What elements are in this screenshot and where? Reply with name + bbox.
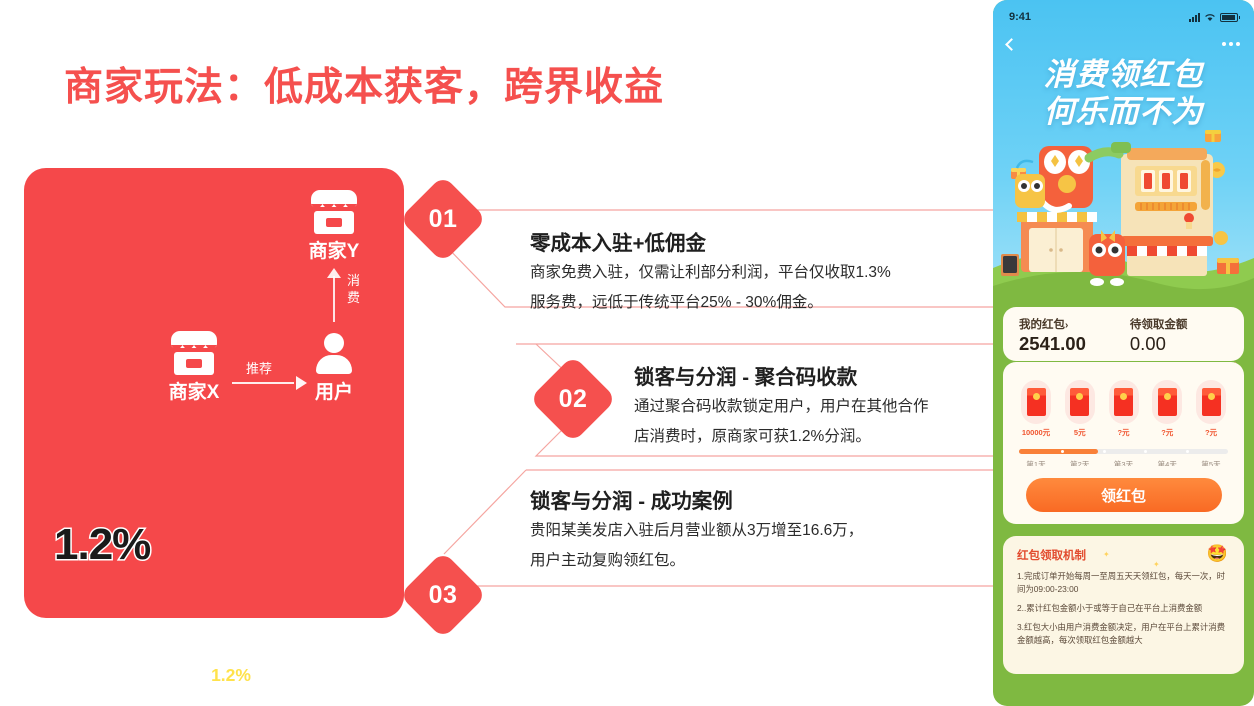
arrow-recommend-right xyxy=(232,376,306,390)
desc-text: 商家X可以得到 xyxy=(90,665,212,685)
step-03-body: 贵阳某美发店入驻后月营业额从3万增至16.6万， 用户主动复购领红包。 xyxy=(530,516,990,576)
page-title: 商家玩法：低成本获客，跨界收益 xyxy=(64,56,664,112)
envelope-amount: ?元 xyxy=(1194,427,1228,438)
my-envelope-label: 我的红包› xyxy=(1019,316,1086,332)
signal-icon xyxy=(1189,13,1200,22)
gift-icon xyxy=(1205,130,1221,142)
card-description: 商家X推荐用户到商家Y消费， 商家X可以得到 1.2%（推荐奖） 让商家愿意“共… xyxy=(24,632,404,706)
node-user: 用户 xyxy=(289,331,379,404)
envelope-icon xyxy=(1109,380,1139,424)
step-02-number: 02 xyxy=(542,368,604,430)
arrow-recommend-label: 推荐 xyxy=(246,358,272,377)
envelope-icon xyxy=(1196,380,1226,424)
node-merchant-y-label: 商家Y xyxy=(289,236,379,263)
hero-illustration xyxy=(993,118,1254,320)
desc-highlight: 1.2% xyxy=(211,665,251,685)
envelope-amount: ?元 xyxy=(1107,427,1141,438)
envelope-amount: 10000元 xyxy=(1019,427,1053,438)
node-merchant-x-label: 商家X xyxy=(149,377,239,404)
user-icon xyxy=(312,331,356,375)
step-03-number: 03 xyxy=(412,564,474,626)
node-merchant-y: 商家Y xyxy=(289,190,379,263)
celebration-emoji-icon: 🤩 xyxy=(1207,544,1228,564)
pending-label: 待领取金额 xyxy=(1130,316,1188,332)
chevron-right-icon: › xyxy=(1065,320,1068,331)
step-03-title: 锁客与分润 - 成功案例 xyxy=(530,484,733,514)
step-03-body-line: 贵阳某美发店入驻后月营业额从3万增至16.6万， xyxy=(530,516,990,546)
joystick-icon xyxy=(1184,213,1194,223)
envelope-icon xyxy=(1152,380,1182,424)
gift-icon xyxy=(1217,258,1239,274)
envelope-item[interactable]: ?元 xyxy=(1194,380,1228,438)
desc-text: 让商家愿意“共享客户” xyxy=(127,694,302,706)
wifi-icon xyxy=(1204,12,1216,22)
step-02-body: 通过聚合码收款锁定用户，用户在其他合作 店消费时，原商家可获1.2%分润。 xyxy=(634,392,994,452)
more-dots-icon[interactable] xyxy=(1222,42,1240,46)
sparkle-icon: ✦ xyxy=(1153,560,1160,569)
rule-item: 1.完成订单开始每周一至周五天天领红包，每天一次，时间为09:00-23:00 xyxy=(1003,564,1244,596)
claim-button-wrap: 领红包 xyxy=(993,478,1254,512)
flower-icon xyxy=(1214,231,1228,245)
step-01-body: 商家免费入驻，仅需让利部分利润，平台仅收取1.3% 服务费，远低于传统平台25%… xyxy=(530,258,990,318)
phone-hero: 9:41 消费领红包 何乐而不为 xyxy=(993,0,1254,320)
phone-navbar xyxy=(993,32,1254,56)
shop-icon xyxy=(171,331,217,375)
step-02-title: 锁客与分润 - 聚合码收款 xyxy=(634,360,857,390)
envelope-list: 10000元 5元 ?元 ?元 ?元 xyxy=(1003,362,1244,438)
my-envelope-label-text: 我的红包 xyxy=(1019,319,1065,331)
envelope-amount: 5元 xyxy=(1063,427,1097,438)
node-merchant-x: 商家X xyxy=(149,331,239,404)
envelope-amount: ?元 xyxy=(1150,427,1184,438)
step-03-body-line: 用户主动复购领红包。 xyxy=(530,546,990,576)
day-progress-bar xyxy=(1019,449,1228,454)
claim-envelope-button[interactable]: 领红包 xyxy=(1026,478,1222,512)
envelope-item[interactable]: 5元 xyxy=(1063,380,1097,438)
desc-text: 商家X推荐用户到商家Y消费， xyxy=(97,636,330,656)
my-envelope-block[interactable]: 我的红包› 2541.00 xyxy=(1019,316,1086,355)
sparkle-icon: ✦ xyxy=(1103,550,1110,559)
status-bar-time: 9:41 xyxy=(1009,11,1031,23)
chevron-left-icon[interactable] xyxy=(1005,38,1018,51)
desc-text: （推荐奖） xyxy=(251,665,339,685)
step-01-body-line: 商家免费入驻，仅需让利部分利润，平台仅收取1.3% xyxy=(530,258,990,288)
step-02-body-line: 店消费时，原商家可获1.2%分润。 xyxy=(634,422,994,452)
merchant-model-card: 商家Y 消费 用户 商家X xyxy=(24,168,404,618)
phone-mockup: 9:41 消费领红包 何乐而不为 xyxy=(993,0,1254,706)
card-description-line-3: 让商家愿意“共享客户” xyxy=(24,690,404,706)
envelope-item[interactable]: ?元 xyxy=(1150,380,1184,438)
status-bar-indicators xyxy=(1189,12,1238,22)
shop-icon xyxy=(311,190,357,234)
rules-panel: 红包领取机制 🤩 ✦ ✦ 1.完成订单开始每周一至周五天天领红包，每天一次，时间… xyxy=(1003,536,1244,674)
rule-item: 2..累计红包金额小于或等于自己在平台上消费金额 xyxy=(1003,596,1244,615)
card-description-line-1: 商家X推荐用户到商家Y消费， xyxy=(24,632,404,661)
wallet-row: 我的红包› 2541.00 待领取金额 0.00 xyxy=(1003,307,1244,355)
slide-root: 商家玩法：低成本获客，跨界收益 商家Y 消费 xyxy=(0,0,1254,706)
step-01-title: 零成本入驻+低佣金 xyxy=(530,226,706,256)
envelope-item[interactable]: ?元 xyxy=(1107,380,1141,438)
battery-icon xyxy=(1220,13,1238,22)
day-progress-fill xyxy=(1019,449,1098,454)
pending-amount-block: 待领取金额 0.00 xyxy=(1130,316,1188,355)
card-description-line-2: 商家X可以得到 1.2%（推荐奖） xyxy=(24,661,404,690)
arrow-consume-up xyxy=(327,268,341,324)
pending-value: 0.00 xyxy=(1130,333,1188,355)
rules-heading: 红包领取机制 xyxy=(1003,536,1086,563)
step-01-body-line: 服务费，远低于传统平台25% - 30%佣金。 xyxy=(530,288,990,318)
rate-badge: 1.2% xyxy=(54,520,150,570)
mascot-yellow-envelope xyxy=(1015,174,1045,208)
rule-item: 3.红包大小由用户消费金额决定，用户在平台上累计消费金额越高，每次领取红包金额越… xyxy=(1003,615,1244,647)
my-envelope-value: 2541.00 xyxy=(1019,333,1086,355)
step-01-number: 01 xyxy=(412,188,474,250)
envelope-icon xyxy=(1021,380,1051,424)
status-bar: 9:41 xyxy=(993,8,1254,26)
wallet-panel: 我的红包› 2541.00 待领取金额 0.00 xyxy=(1003,307,1244,361)
arrow-consume-label: 消费 xyxy=(346,272,361,306)
step-02-body-line: 通过聚合码收款锁定用户，用户在其他合作 xyxy=(634,392,994,422)
hero-title-line-1: 消费领红包 xyxy=(993,56,1254,93)
envelope-icon xyxy=(1065,380,1095,424)
envelope-item[interactable]: 10000元 xyxy=(1019,380,1053,438)
